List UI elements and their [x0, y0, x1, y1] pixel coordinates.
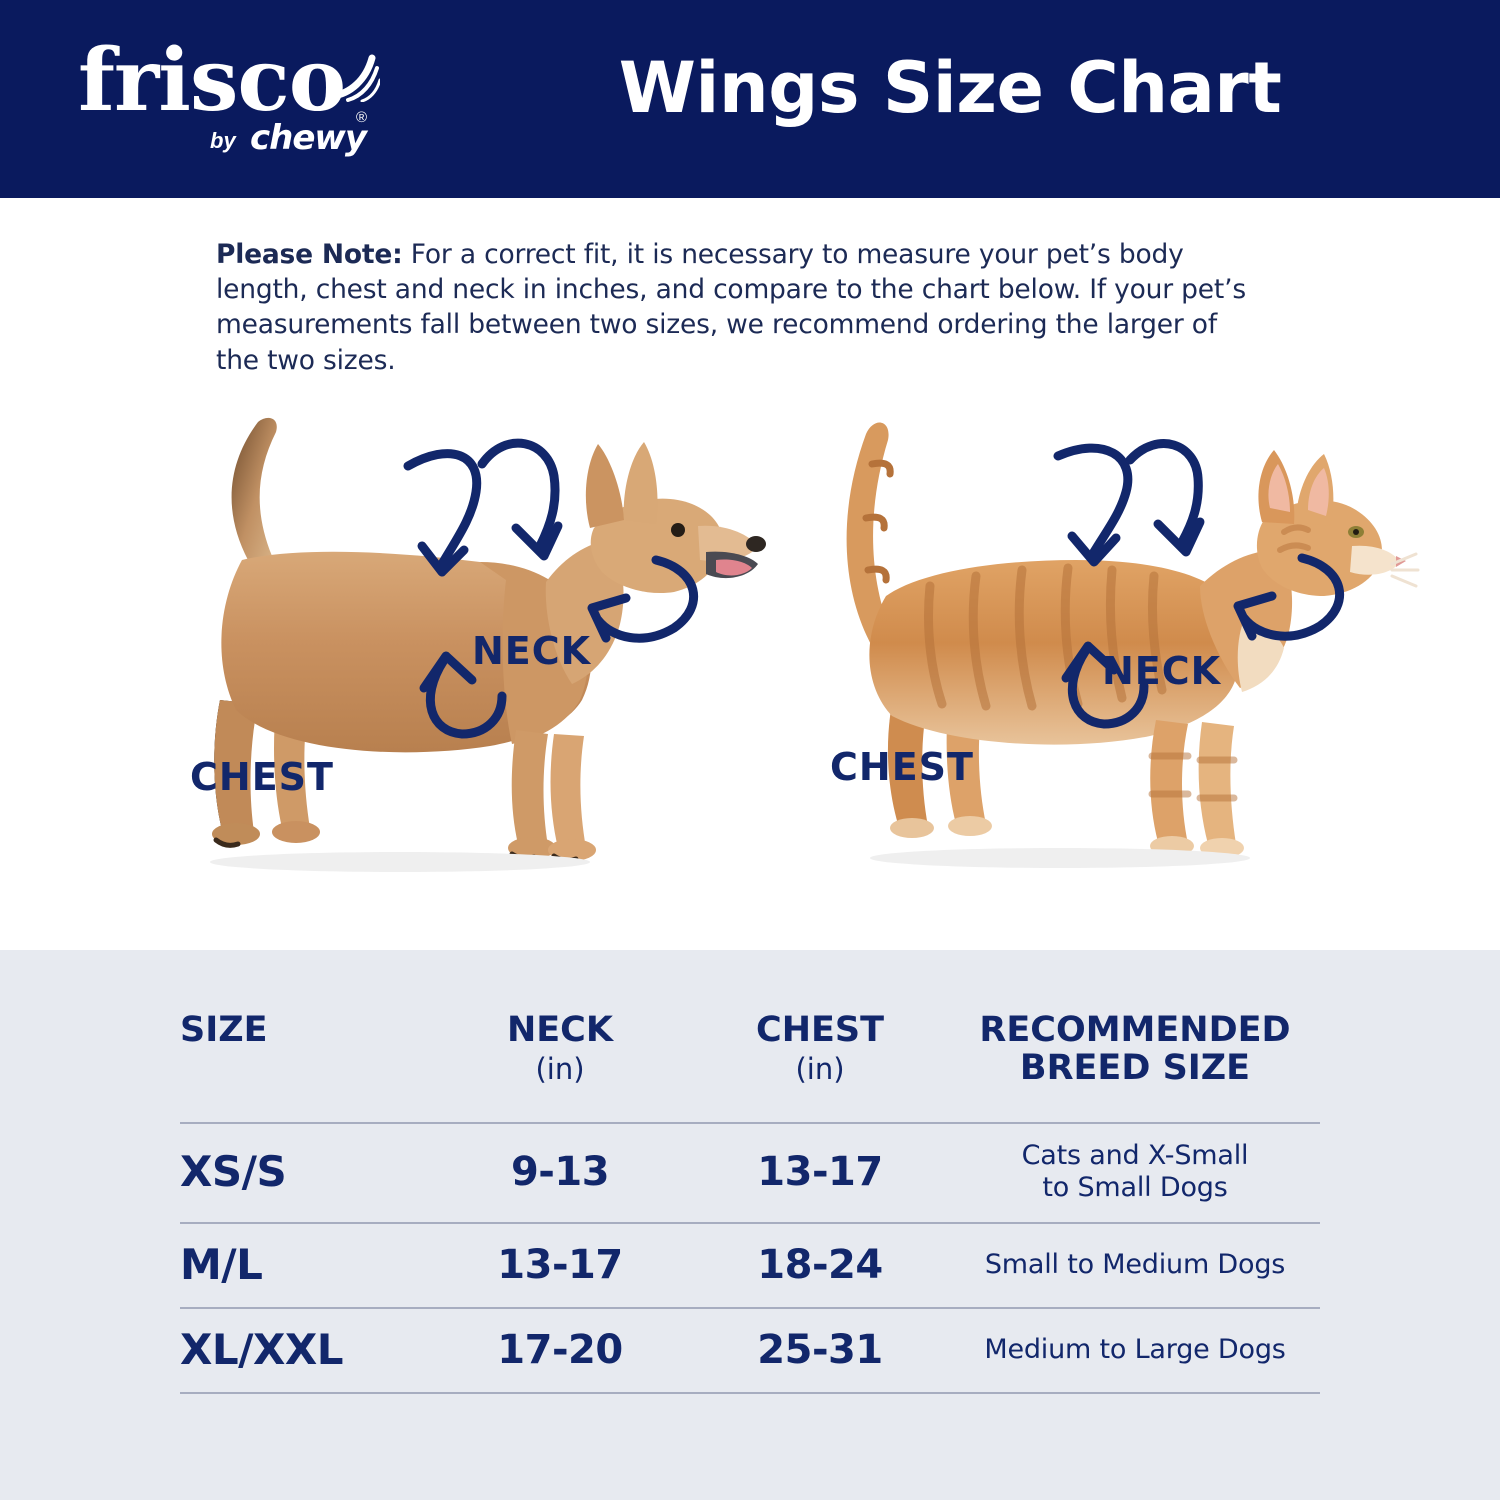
brand-chewy-label: chewy — [250, 121, 366, 155]
size-chart-table: SIZE NECK (in) CHEST (in) RECOMMENDED BR… — [180, 1012, 1320, 1394]
cell-neck: 17-20 — [430, 1308, 690, 1393]
table-row: XS/S 9-13 13-17 Cats and X-Small to Smal… — [180, 1123, 1320, 1224]
illustrations-area: NECK CHEST NECK CHEST — [0, 380, 1500, 880]
cell-breed-line1: Cats and X-Small — [1022, 1140, 1249, 1171]
cell-breed-line2: to Small Dogs — [1042, 1172, 1227, 1203]
column-header-breed-label: RECOMMENDED BREED SIZE — [979, 1010, 1290, 1088]
cell-neck: 9-13 — [430, 1123, 690, 1224]
cell-chest: 25-31 — [690, 1308, 950, 1393]
please-note-label: Please Note: — [216, 239, 403, 270]
cell-breed: Cats and X-Small to Small Dogs — [950, 1123, 1320, 1224]
column-header-chest-unit: (in) — [690, 1054, 950, 1085]
table-row: XL/XXL 17-20 25-31 Medium to Large Dogs — [180, 1308, 1320, 1393]
column-header-chest-label: CHEST — [756, 1010, 884, 1050]
cell-chest: 13-17 — [690, 1123, 950, 1224]
cell-breed: Medium to Large Dogs — [950, 1308, 1320, 1393]
page-title: Wings Size Chart — [420, 52, 1480, 126]
cat-illustration — [800, 400, 1420, 880]
column-header-size-label: SIZE — [180, 1010, 268, 1050]
cat-chest-label: CHEST — [830, 748, 974, 786]
column-header-neck: NECK (in) — [430, 1012, 690, 1123]
column-header-size: SIZE — [180, 1012, 430, 1123]
size-chart-page: frisco ® by chewy Wings Size Chart Pleas… — [0, 0, 1500, 1500]
table-header-row: SIZE NECK (in) CHEST (in) RECOMMENDED BR… — [180, 1012, 1320, 1123]
column-header-breed: RECOMMENDED BREED SIZE — [950, 1012, 1320, 1123]
column-header-chest: CHEST (in) — [690, 1012, 950, 1123]
cell-chest: 18-24 — [690, 1223, 950, 1308]
frisco-by-chewy-logo: frisco ® by chewy — [78, 38, 378, 168]
table-row: M/L 13-17 18-24 Small to Medium Dogs — [180, 1223, 1320, 1308]
header-band: frisco ® by chewy Wings Size Chart — [0, 0, 1500, 198]
column-header-neck-label: NECK — [507, 1010, 613, 1050]
cell-size: M/L — [180, 1223, 430, 1308]
cell-breed: Small to Medium Dogs — [950, 1223, 1320, 1308]
cat-neck-label: NECK — [1102, 652, 1221, 690]
dog-illustration — [150, 400, 770, 880]
cell-size: XL/XXL — [180, 1308, 430, 1393]
size-table-section: SIZE NECK (in) CHEST (in) RECOMMENDED BR… — [0, 950, 1500, 1500]
cell-neck: 13-17 — [430, 1223, 690, 1308]
swoosh-icon — [328, 54, 380, 102]
column-header-neck-unit: (in) — [430, 1054, 690, 1085]
dog-chest-label: CHEST — [190, 758, 334, 796]
brand-wordmark: frisco — [78, 38, 345, 124]
brand-by-label: by — [210, 130, 236, 152]
please-note-paragraph: Please Note: For a correct fit, it is ne… — [216, 237, 1246, 378]
cell-size: XS/S — [180, 1123, 430, 1224]
dog-neck-label: NECK — [472, 632, 591, 670]
